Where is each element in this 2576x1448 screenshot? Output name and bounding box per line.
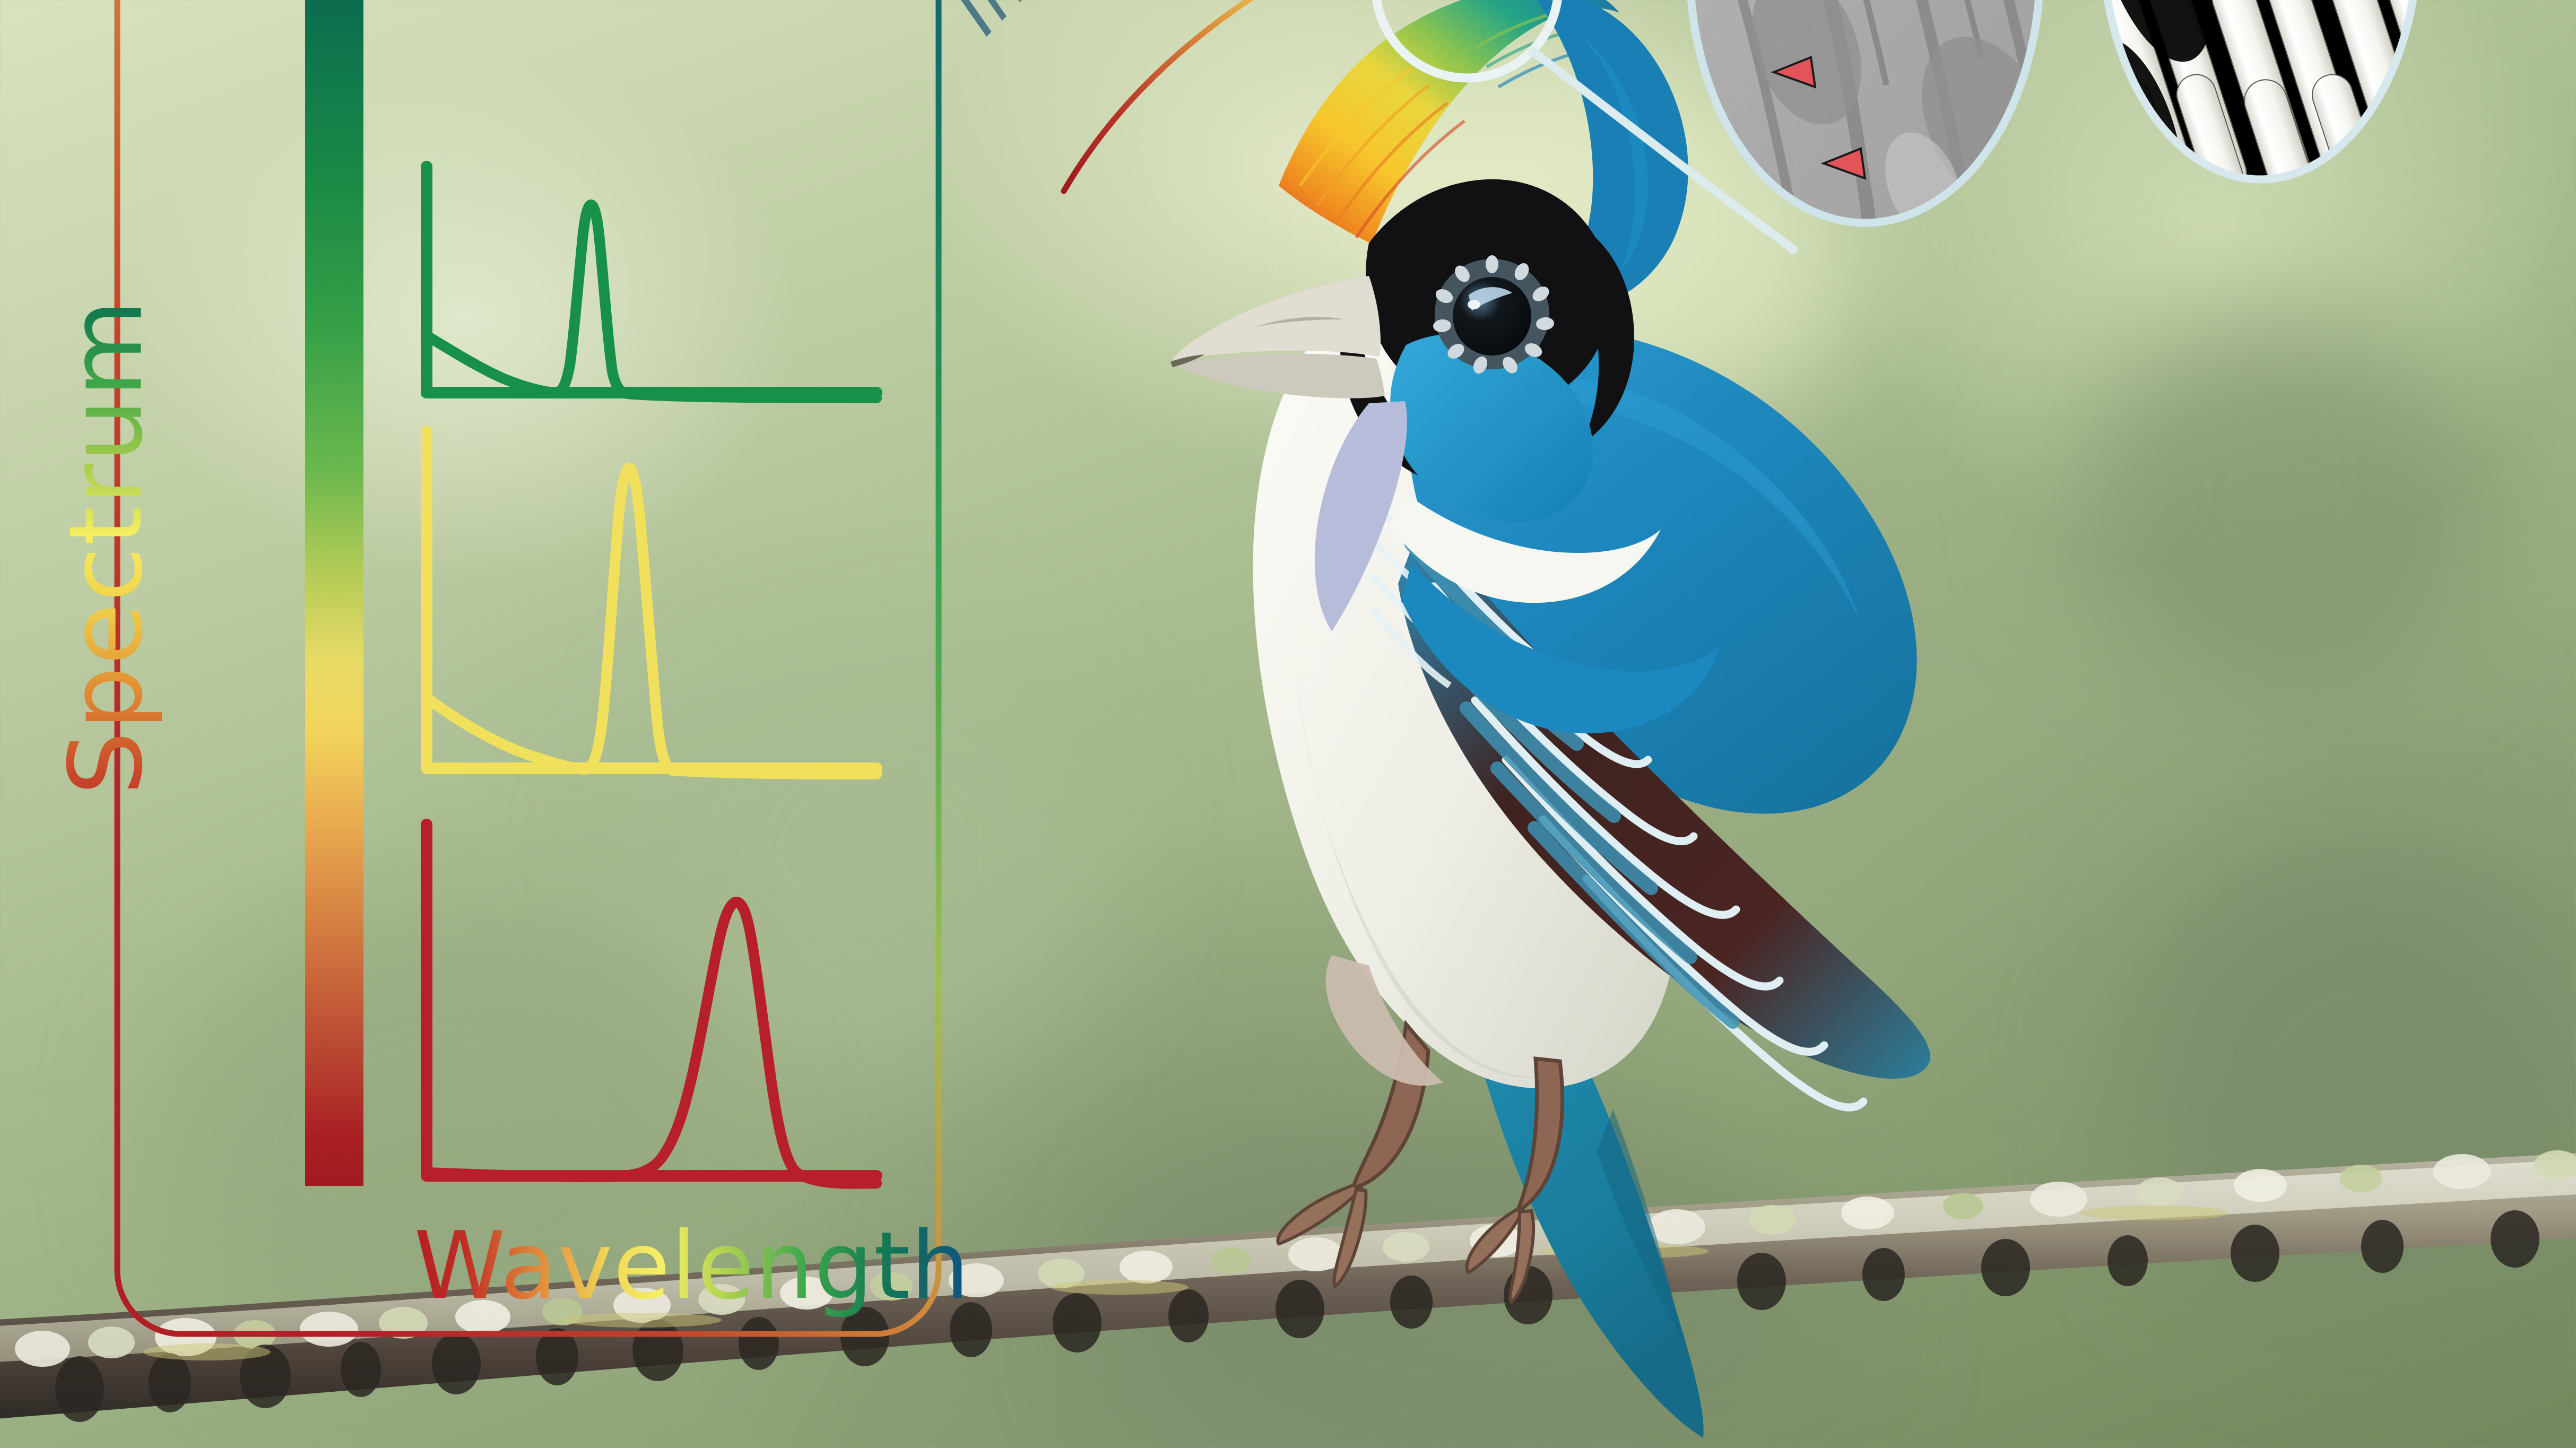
green-spectrum-plot xyxy=(419,159,886,409)
yellow-spectrum-plot xyxy=(419,424,886,791)
cover-illustration: Spectrum xyxy=(0,0,2576,1448)
nanostructure-inset xyxy=(2091,0,2430,249)
loupe-circle xyxy=(1376,0,1558,78)
yellow-curve xyxy=(429,468,877,774)
red-spectrum-plot xyxy=(419,817,886,1199)
toes xyxy=(1278,1185,1533,1302)
spectrum-colorbar xyxy=(305,0,363,1186)
beak-upper xyxy=(1173,276,1381,361)
tem-micrograph-inset xyxy=(1674,0,2056,292)
beak-lower xyxy=(1176,354,1385,398)
spectrum-axis-label: Spectrum xyxy=(48,229,165,865)
red-curve xyxy=(429,902,877,1184)
green-curve xyxy=(429,205,877,398)
